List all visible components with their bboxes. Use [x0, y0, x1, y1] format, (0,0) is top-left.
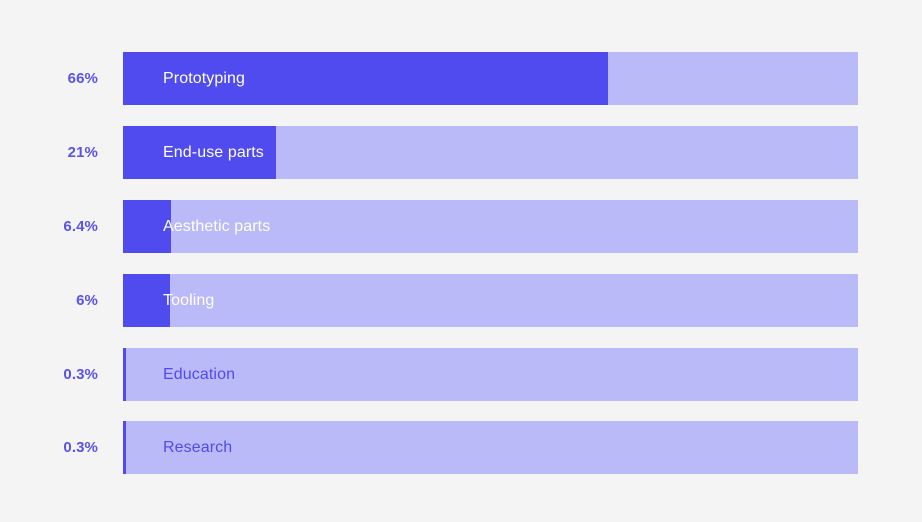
bar-value-label: 6% [0, 274, 98, 327]
bar-value-label: 66% [0, 52, 98, 105]
bar-chart: 66%Prototyping21%End-use parts6.4%Aesthe… [0, 0, 922, 522]
bar-value-label: 6.4% [0, 200, 98, 253]
bar-fill [123, 421, 126, 474]
bar-row[interactable]: 0.3%Education [0, 348, 922, 401]
bar-track[interactable]: End-use parts [123, 126, 858, 179]
bar-category-label: Tooling [163, 274, 214, 327]
bar-value-label: 0.3% [0, 421, 98, 474]
bar-row[interactable]: 6%Tooling [0, 274, 922, 327]
bar-category-label: Prototyping [163, 52, 245, 105]
bar-track[interactable]: Aesthetic parts [123, 200, 858, 253]
bar-track[interactable]: Prototyping [123, 52, 858, 105]
bar-category-label: Research [163, 421, 232, 474]
bar-row[interactable]: 6.4%Aesthetic parts [0, 200, 922, 253]
bar-fill [123, 348, 126, 401]
bar-track[interactable]: Tooling [123, 274, 858, 327]
bar-value-label: 21% [0, 126, 98, 179]
bar-row[interactable]: 0.3%Research [0, 421, 922, 474]
bar-category-label: Aesthetic parts [163, 200, 270, 253]
bar-value-label: 0.3% [0, 348, 98, 401]
bar-track[interactable]: Research [123, 421, 858, 474]
bar-track[interactable]: Education [123, 348, 858, 401]
bar-row[interactable]: 66%Prototyping [0, 52, 922, 105]
bar-category-label: End-use parts [163, 126, 264, 179]
bar-category-label: Education [163, 348, 235, 401]
bar-row[interactable]: 21%End-use parts [0, 126, 922, 179]
